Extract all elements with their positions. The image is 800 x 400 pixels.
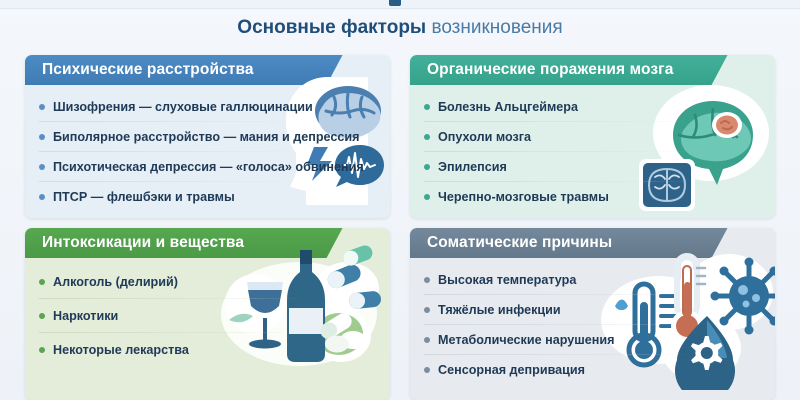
card-somatic-causes[interactable]: Соматические причины bbox=[410, 228, 775, 400]
page-title: Основные факторы возникновения bbox=[0, 16, 800, 40]
card-heading-intoxications-substances: Интоксикации и вещества bbox=[25, 228, 343, 258]
top-marker-icon bbox=[389, 0, 401, 6]
card-heading-organic-brain-lesions: Органические поражения мозга bbox=[410, 55, 728, 85]
list-item-label: Опухоли мозга bbox=[438, 130, 531, 144]
list-item-label: Сенсорная депривация bbox=[438, 363, 585, 377]
list-somatic-causes: Высокая температура Тяжёлые инфекции Мет… bbox=[410, 258, 775, 385]
list-item-label: Наркотики bbox=[53, 309, 118, 323]
list-item[interactable]: Черепно-мозговые травмы bbox=[424, 182, 775, 212]
list-item[interactable]: Шизофрения — слуховые галлюцинации bbox=[39, 92, 390, 122]
list-item[interactable]: Высокая температура bbox=[424, 265, 775, 295]
card-heading-somatic-causes: Соматические причины bbox=[410, 228, 728, 258]
bullet-icon bbox=[39, 164, 45, 170]
bullet-icon bbox=[424, 194, 430, 200]
list-item-label: Эпилепсия bbox=[438, 160, 507, 174]
list-item[interactable]: Наркотики bbox=[39, 299, 390, 333]
list-intoxications-substances: Алкоголь (делирий) Наркотики Некоторые л… bbox=[25, 258, 390, 367]
list-item-label: Болезнь Альцгеймера bbox=[438, 100, 578, 114]
list-item-label: Тяжёлые инфекции bbox=[438, 303, 561, 317]
card-organic-brain-lesions[interactable]: Органические поражения мозга bbox=[410, 55, 775, 218]
bullet-icon bbox=[39, 313, 45, 319]
bullet-icon bbox=[39, 134, 45, 140]
bullet-icon bbox=[39, 194, 45, 200]
list-item-label: Биполярное расстройство — мания и депрес… bbox=[53, 130, 359, 144]
bullet-icon bbox=[424, 367, 430, 373]
cards-grid: Психические расстройства Шизофрения — bbox=[25, 55, 775, 400]
list-item[interactable]: Биполярное расстройство — мания и депрес… bbox=[39, 122, 390, 152]
list-item-label: Метаболические нарушения bbox=[438, 333, 614, 347]
page-title-strong: Основные факторы bbox=[237, 17, 426, 38]
list-item[interactable]: Психотическая депрессия — «голоса» обвин… bbox=[39, 152, 390, 182]
bullet-icon bbox=[424, 307, 430, 313]
list-item-label: Психотическая депрессия — «голоса» обвин… bbox=[53, 160, 364, 174]
list-item-label: ПТСР — флешбэки и травмы bbox=[53, 190, 235, 204]
card-heading-mental-disorders: Психические расстройства bbox=[25, 55, 343, 85]
bullet-icon bbox=[424, 164, 430, 170]
list-item[interactable]: Болезнь Альцгеймера bbox=[424, 92, 775, 122]
list-item-label: Высокая температура bbox=[438, 273, 576, 287]
bullet-icon bbox=[39, 347, 45, 353]
bullet-icon bbox=[424, 134, 430, 140]
list-item[interactable]: Некоторые лекарства bbox=[39, 333, 390, 367]
list-item[interactable]: Метаболические нарушения bbox=[424, 325, 775, 355]
infographic-page: Основные факторы возникновения Психическ… bbox=[0, 0, 800, 400]
bullet-icon bbox=[39, 279, 45, 285]
list-item-label: Шизофрения — слуховые галлюцинации bbox=[53, 100, 313, 114]
bullet-icon bbox=[39, 104, 45, 110]
list-organic-brain-lesions: Болезнь Альцгеймера Опухоли мозга Эпилеп… bbox=[410, 85, 775, 212]
card-intoxications-substances[interactable]: Интоксикации и вещества bbox=[25, 228, 390, 400]
bullet-icon bbox=[424, 337, 430, 343]
list-item-label: Некоторые лекарства bbox=[53, 343, 189, 357]
list-item[interactable]: Опухоли мозга bbox=[424, 122, 775, 152]
list-mental-disorders: Шизофрения — слуховые галлюцинации Бипол… bbox=[25, 85, 390, 212]
list-item[interactable]: Алкоголь (делирий) bbox=[39, 265, 390, 299]
list-item[interactable]: ПТСР — флешбэки и травмы bbox=[39, 182, 390, 212]
list-item-label: Алкоголь (делирий) bbox=[53, 275, 178, 289]
page-title-light: возникновения bbox=[431, 17, 562, 38]
top-strip bbox=[0, 0, 800, 9]
bullet-icon bbox=[424, 277, 430, 283]
list-item[interactable]: Сенсорная депривация bbox=[424, 355, 775, 385]
list-item[interactable]: Эпилепсия bbox=[424, 152, 775, 182]
bullet-icon bbox=[424, 104, 430, 110]
list-item[interactable]: Тяжёлые инфекции bbox=[424, 295, 775, 325]
card-mental-disorders[interactable]: Психические расстройства Шизофрения — bbox=[25, 55, 390, 218]
list-item-label: Черепно-мозговые травмы bbox=[438, 190, 609, 204]
